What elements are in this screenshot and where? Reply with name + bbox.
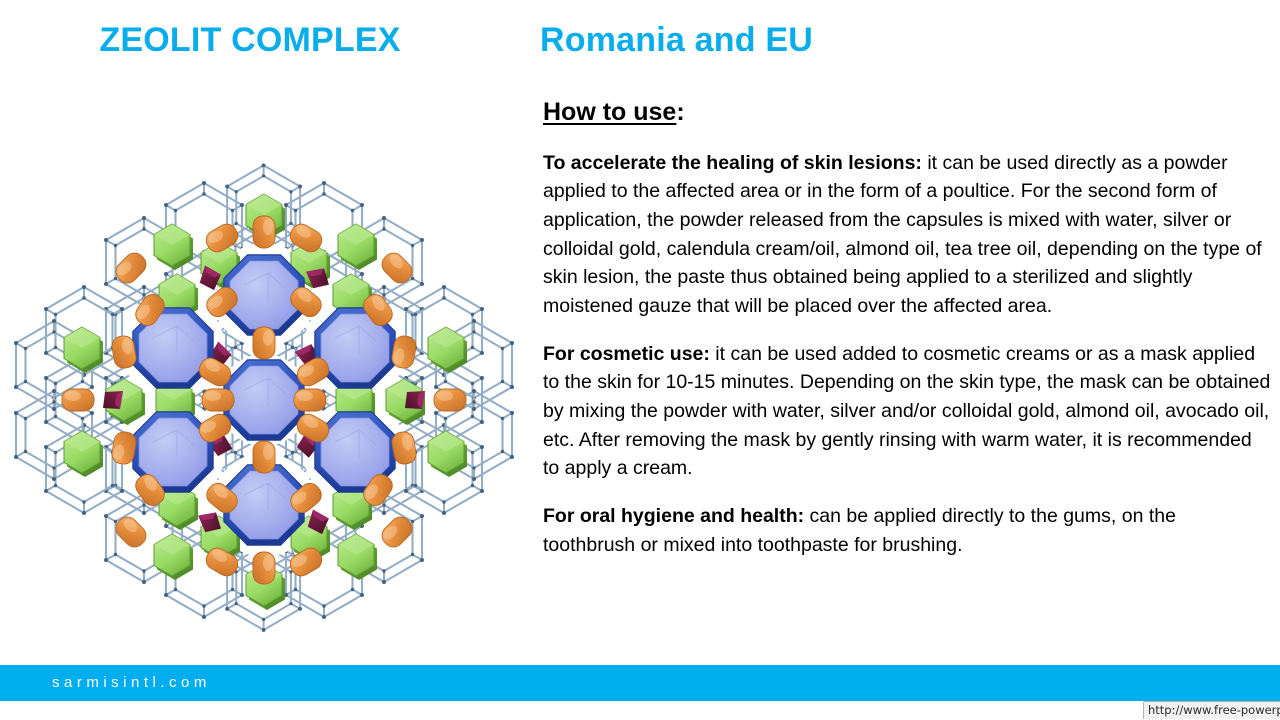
paragraph-lead-cosmetic-use: For cosmetic use:: [543, 343, 710, 365]
section-heading-colon: :: [676, 98, 684, 126]
footer-website-label: sarmisintl.com: [52, 674, 211, 691]
page-title-right: Romania and EU: [540, 22, 813, 59]
paragraph-body-skin-lesions: it can be used directly as a powder appl…: [543, 152, 1262, 317]
content-column: How to use: To accelerate the healing of…: [543, 98, 1273, 559]
section-heading-underlined-text: How to use: [543, 98, 676, 126]
paragraph-lead-oral-hygiene: For oral hygiene and health:: [543, 505, 804, 527]
paragraph-skin-lesions: To accelerate the healing of skin lesion…: [543, 149, 1273, 321]
paragraph-oral-hygiene: For oral hygiene and health: can be appl…: [543, 502, 1273, 559]
browser-status-url-tooltip: http://www.free-powerpoint-: [1143, 701, 1280, 719]
section-heading: How to use:: [543, 98, 1273, 127]
zeolite-framework-diagram: [14, 150, 514, 650]
paragraph-cosmetic-use: For cosmetic use: it can be used added t…: [543, 340, 1273, 483]
paragraph-lead-skin-lesions: To accelerate the healing of skin lesion…: [543, 152, 922, 174]
zeolite-svg: [14, 150, 514, 650]
slide-canvas: ZEOLIT COMPLEX Romania and EU: [0, 0, 1280, 720]
page-title-left: ZEOLIT COMPLEX: [0, 22, 500, 59]
